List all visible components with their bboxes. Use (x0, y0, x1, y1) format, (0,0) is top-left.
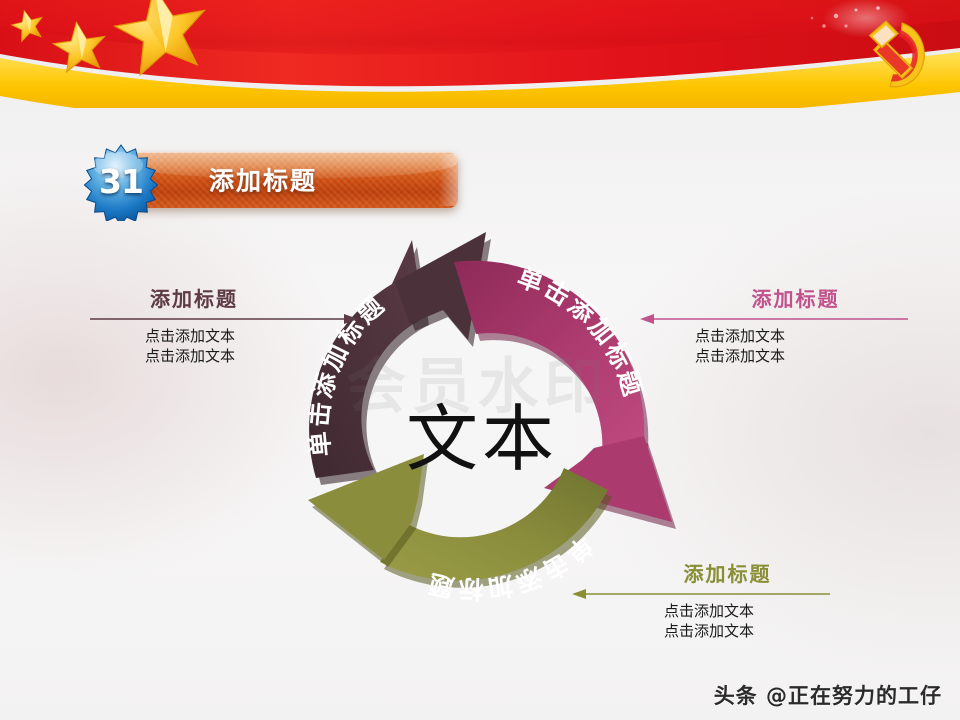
callout-bottom-line-2: 点击添加文本 (572, 621, 847, 641)
callout-left-arrow-line (90, 312, 360, 326)
badge-number-text: 31 (82, 143, 160, 221)
callout-bottom-line-1: 点击添加文本 (572, 601, 847, 621)
callout-right: 添加标题 点击添加文本 点击添加文本 (640, 283, 915, 367)
callout-right-arrow-line (640, 312, 915, 326)
titlebar-end-cap (439, 154, 458, 206)
top-banner (0, 0, 960, 108)
callout-right-line-2: 点击添加文本 (640, 346, 915, 366)
slide-canvas: 添加标题 31 (0, 0, 960, 720)
section-title-text: 添加标题 (209, 161, 317, 197)
section-number-badge[interactable]: 31 (82, 143, 160, 221)
section-title-bar[interactable]: 添加标题 (123, 152, 458, 208)
callout-left-line-2: 点击添加文本 (90, 346, 360, 366)
callout-left-line-1: 点击添加文本 (90, 326, 360, 346)
callout-right-heading: 添加标题 (640, 283, 915, 312)
callout-left: 添加标题 点击添加文本 点击添加文本 (90, 283, 360, 367)
callout-bottom-arrow-line (572, 587, 847, 601)
callout-bottom-heading: 添加标题 (572, 558, 847, 587)
footer-watermark: 头条 @正在努力的工仔 (714, 680, 942, 710)
callout-right-line-1: 点击添加文本 (640, 326, 915, 346)
callout-left-heading: 添加标题 (90, 283, 360, 312)
callout-bottom: 添加标题 点击添加文本 点击添加文本 (572, 558, 847, 642)
